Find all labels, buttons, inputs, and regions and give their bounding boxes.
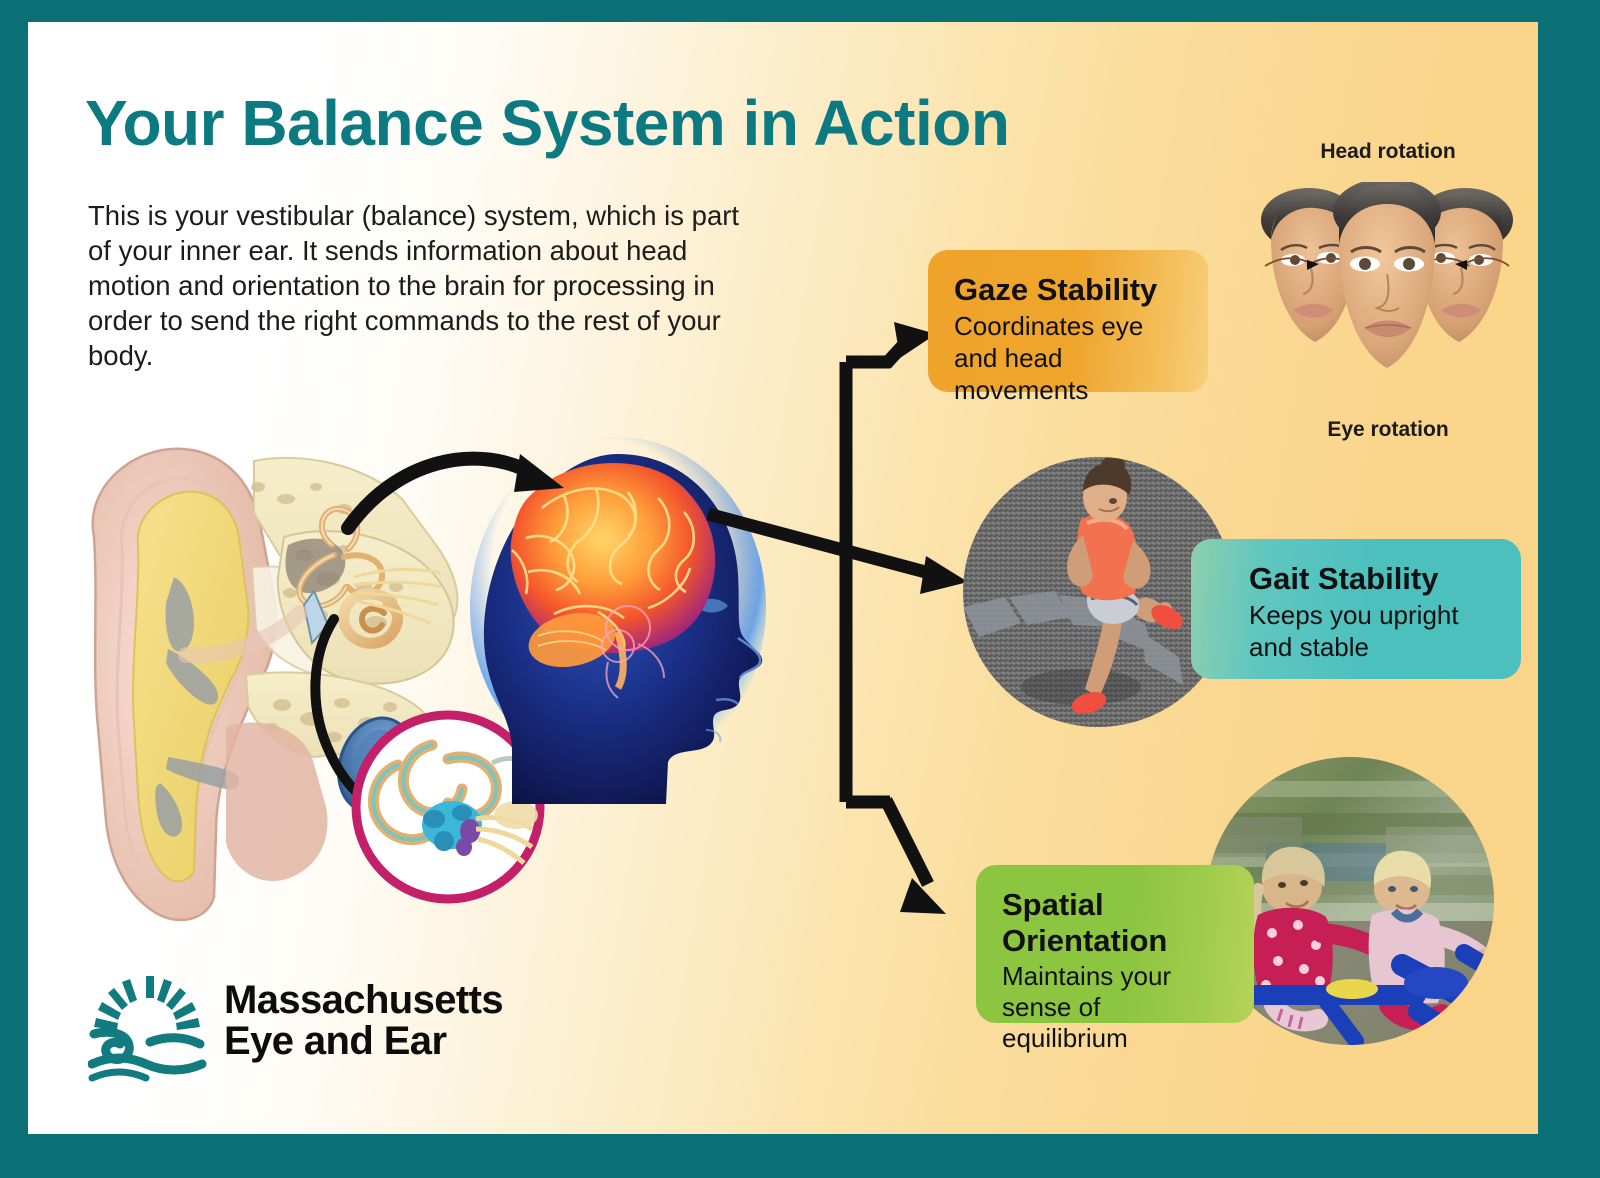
page-title: Your Balance System in Action bbox=[85, 86, 1009, 160]
wave-line-3 bbox=[150, 1038, 200, 1044]
card-gait-title: Gait Stability bbox=[1249, 561, 1495, 597]
card-gaze-stability[interactable]: Gaze Stability Coordinates eye and head … bbox=[928, 250, 1208, 392]
sunburst-rays bbox=[94, 976, 200, 1030]
card-spatial-orientation[interactable]: Spatial Orientation Maintains your sense… bbox=[976, 865, 1254, 1023]
eye-rotation-label: Eye rotation bbox=[1278, 418, 1498, 442]
head-brain-icon bbox=[468, 432, 798, 832]
logo-line-2: Eye and Ear bbox=[224, 1021, 503, 1062]
face-center bbox=[1333, 182, 1441, 368]
poster-canvas: Your Balance System in Action This is yo… bbox=[28, 22, 1538, 1134]
card-gait-stability[interactable]: Gait Stability Keeps you upright and sta… bbox=[1191, 539, 1521, 679]
card-spatial-title: Spatial Orientation bbox=[1002, 887, 1228, 959]
card-spatial-subtitle: Maintains your sense of equilibrium bbox=[1002, 961, 1228, 1054]
intro-paragraph: This is your vestibular (balance) system… bbox=[88, 198, 758, 373]
mass-eye-and-ear-logo-icon bbox=[88, 972, 208, 1084]
wave-line-1 bbox=[92, 1058, 202, 1070]
wave-line-2 bbox=[92, 1072, 146, 1078]
arrow-to-spatial bbox=[886, 800, 946, 914]
logo: Massachusetts Eye and Ear bbox=[88, 972, 488, 1087]
card-gaze-subtitle: Coordinates eye and head movements bbox=[954, 310, 1182, 406]
logo-line-1: Massachusetts bbox=[224, 980, 503, 1021]
faces-head-rotation-illustration bbox=[1253, 182, 1521, 412]
head-rotation-label: Head rotation bbox=[1293, 140, 1483, 164]
head-brain-illustration bbox=[468, 432, 798, 832]
card-gaze-title: Gaze Stability bbox=[954, 272, 1182, 308]
infographic-poster: Your Balance System in Action This is yo… bbox=[0, 0, 1600, 1178]
card-gait-subtitle: Keeps you upright and stable bbox=[1249, 599, 1495, 663]
three-faces-icon bbox=[1253, 182, 1521, 412]
logo-text: Massachusetts Eye and Ear bbox=[224, 980, 503, 1062]
